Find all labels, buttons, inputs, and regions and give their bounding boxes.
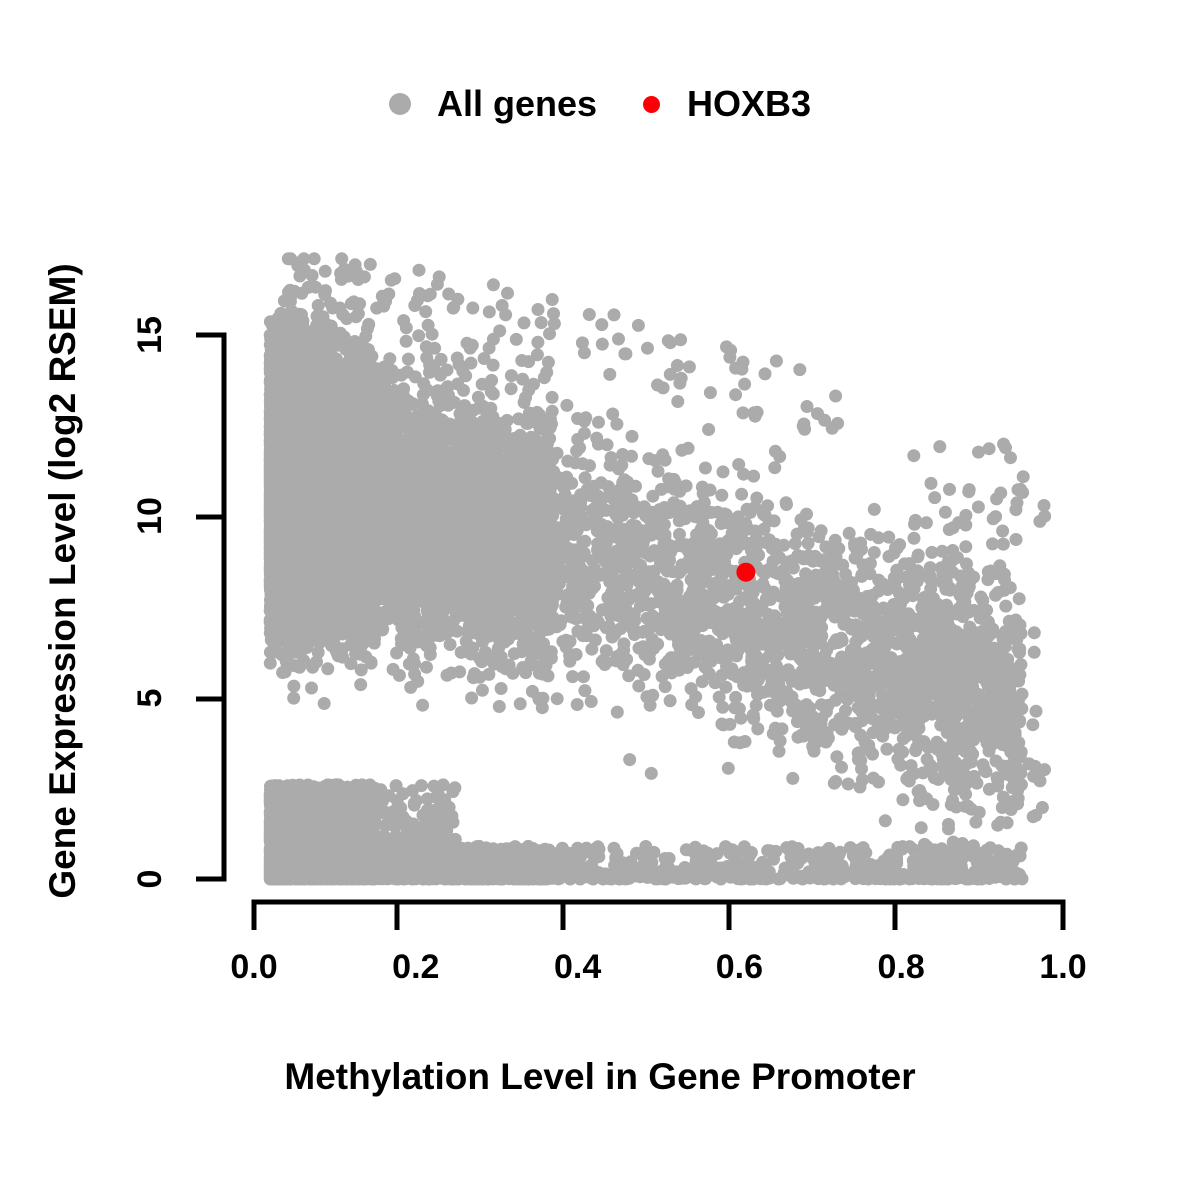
hoxb3-point[interactable]	[736, 563, 755, 582]
x-tick-label: 0.0	[230, 948, 277, 987]
x-axis-line	[254, 902, 1063, 930]
hoxb3-highlight-point[interactable]	[736, 563, 755, 582]
all-genes-point-cloud	[264, 252, 1051, 885]
y-tick-label: 10	[128, 486, 172, 546]
x-tick-label: 0.6	[716, 948, 763, 987]
x-tick-label: 0.4	[554, 948, 601, 987]
x-tick-label: 1.0	[1039, 948, 1086, 987]
y-tick-label: 5	[128, 668, 172, 728]
y-axis-line	[196, 335, 224, 879]
x-axis-title: Methylation Level in Gene Promoter	[0, 1056, 1200, 1098]
scatter-plot-figure: All genes HOXB3 Methylation Level in Gen…	[0, 0, 1200, 1200]
all-genes-points	[264, 252, 1051, 885]
x-tick-label: 0.2	[392, 948, 439, 987]
y-axis-title: Gene Expression Level (log2 RSEM)	[42, 231, 84, 931]
plot-canvas	[0, 0, 1200, 1200]
y-tick-label: 0	[128, 849, 172, 909]
y-tick-label: 15	[128, 305, 172, 365]
x-tick-label: 0.8	[878, 948, 925, 987]
